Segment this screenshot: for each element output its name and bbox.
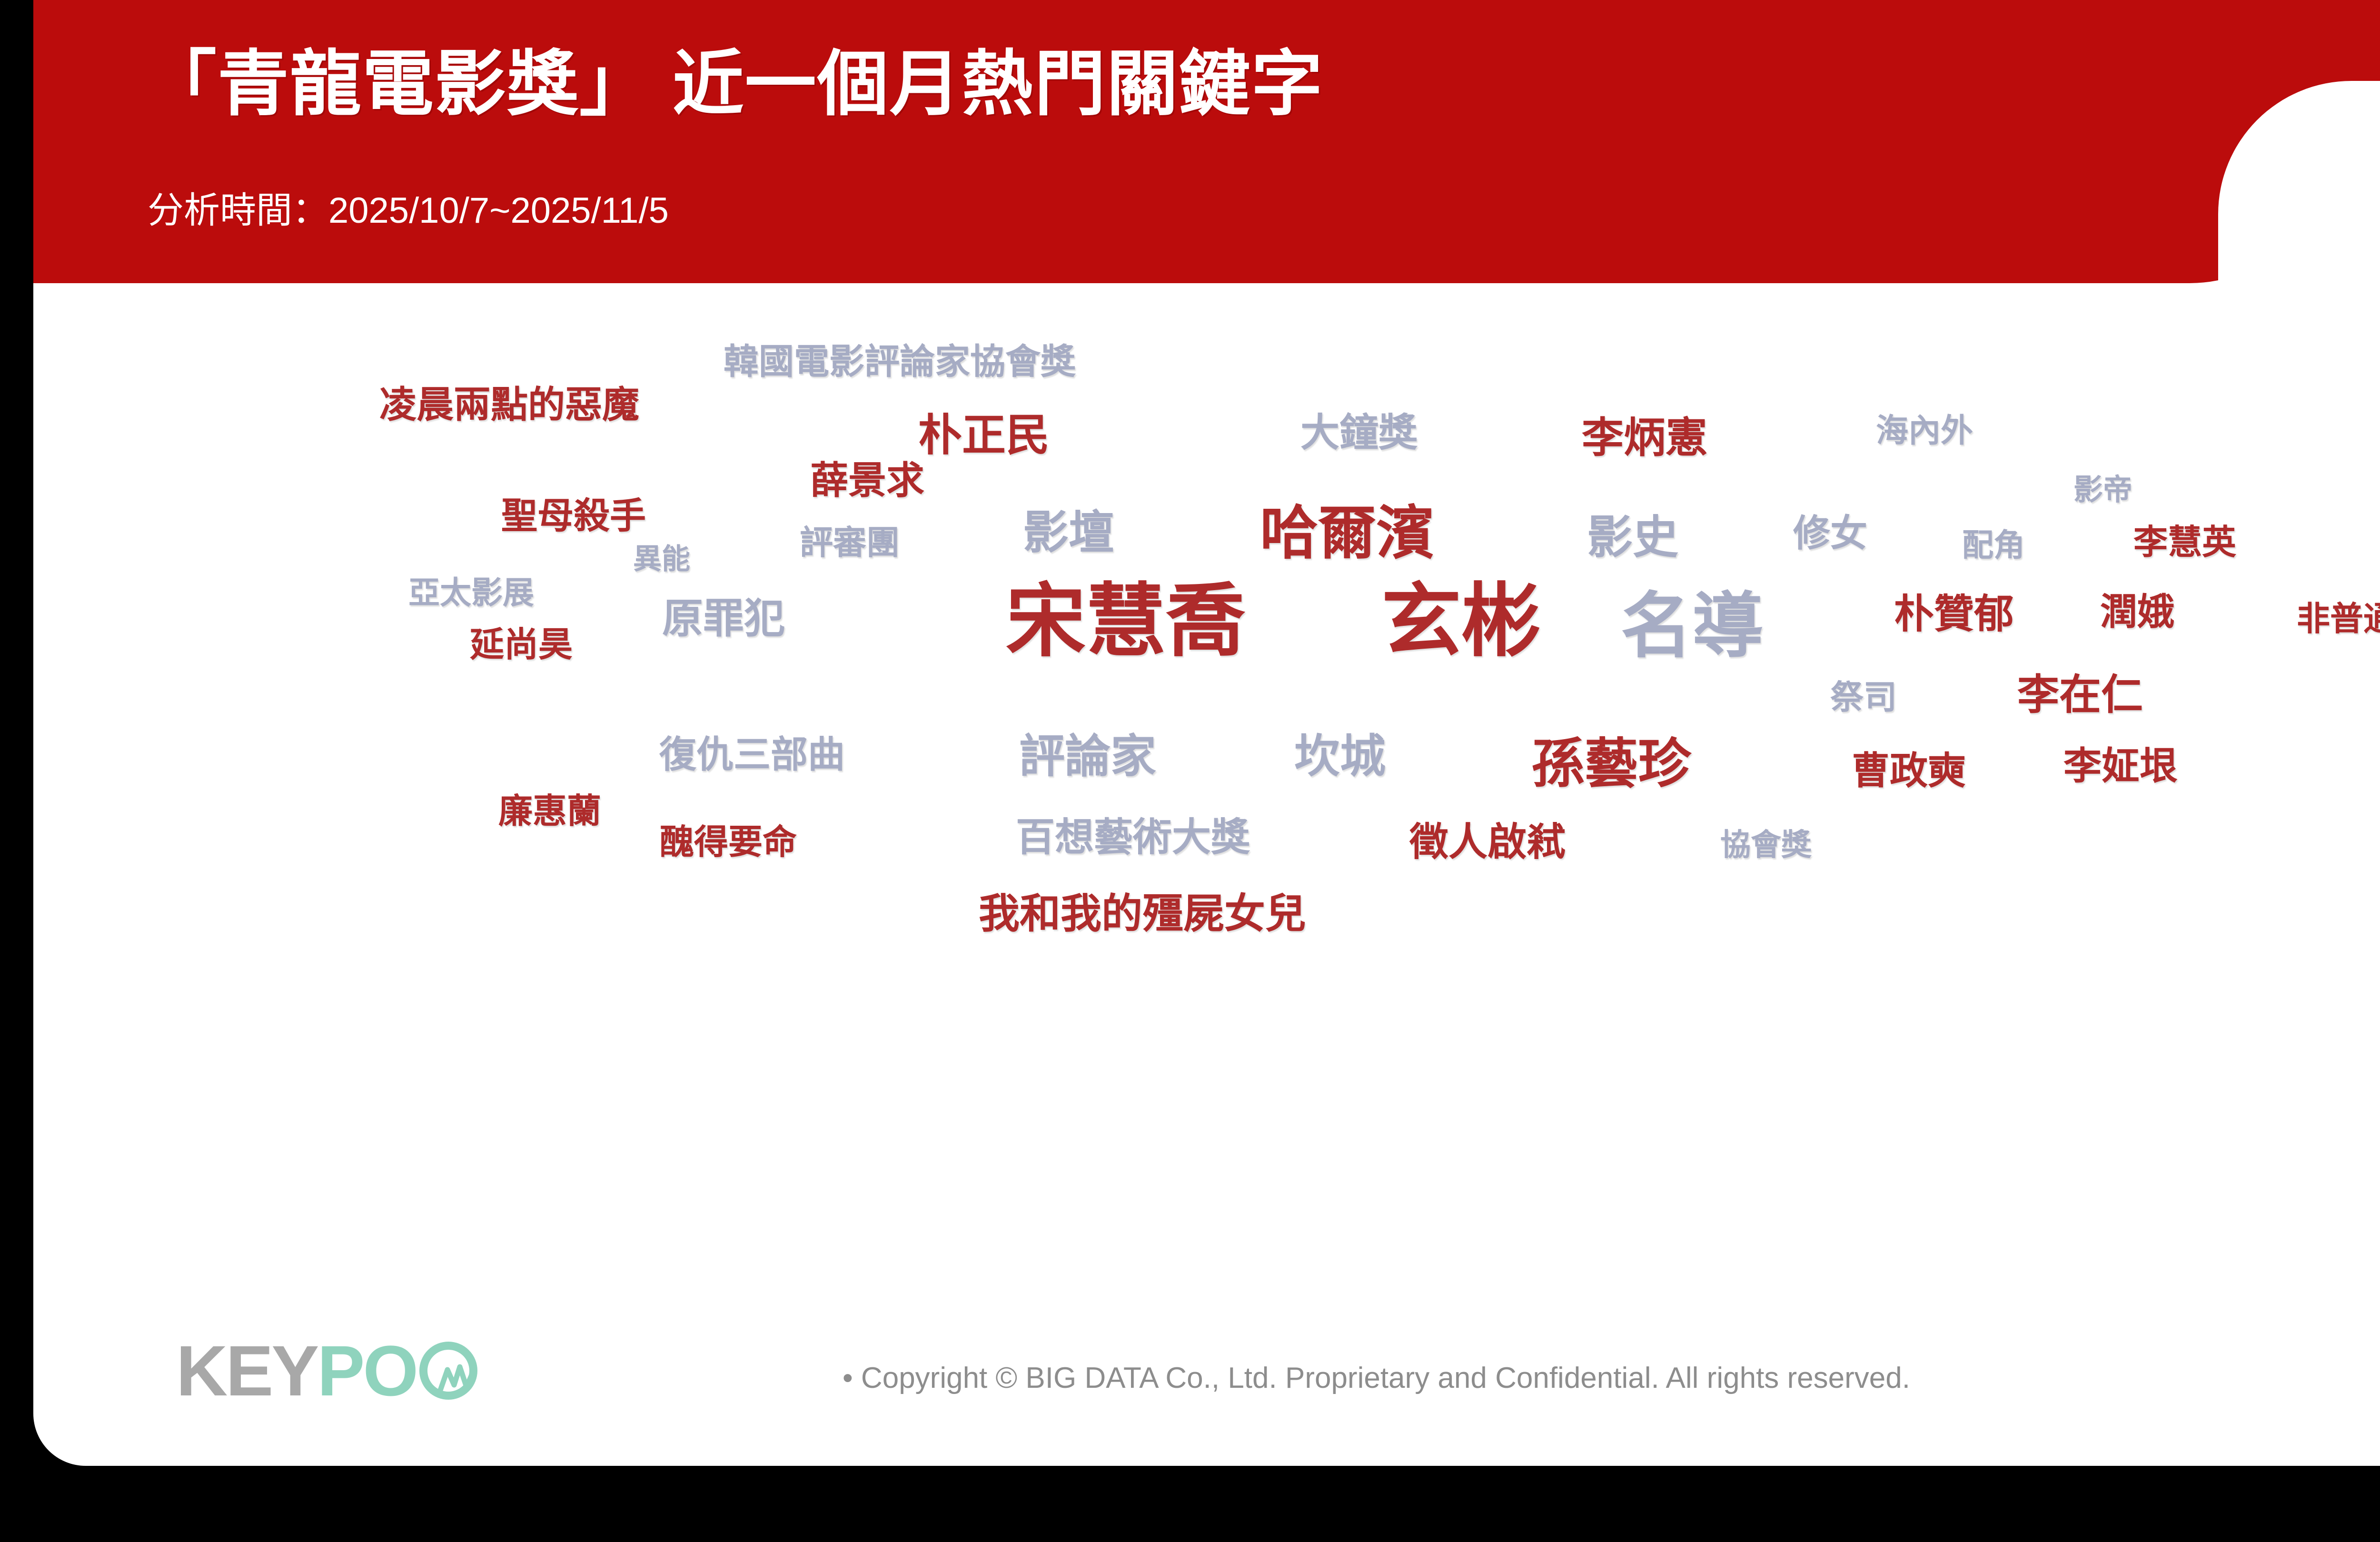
word-cloud-term[interactable]: 祭司 — [1830, 681, 1897, 714]
word-cloud-term[interactable]: 名導 — [1621, 590, 1764, 662]
word-cloud-term[interactable]: 孫藝珍 — [1531, 737, 1691, 791]
page-title: 「青龍電影獎」 近一個月熱門關鍵字 — [145, 26, 1324, 129]
analysis-period-label: 分析時間：2025/10/7~2025/11/5 — [148, 181, 669, 233]
word-cloud-term[interactable]: 玄彬 — [1381, 581, 1541, 661]
word-cloud-term[interactable]: 大鐘獎 — [1300, 414, 1418, 453]
word-cloud-term[interactable]: 李慧英 — [2133, 525, 2236, 560]
word-cloud-term[interactable]: 非普通家族 — [2297, 602, 2380, 635]
word-cloud-term[interactable]: 宋慧喬 — [1006, 581, 1246, 661]
word-cloud-term[interactable]: 原罪犯 — [662, 598, 785, 639]
word-cloud-term[interactable]: 配角 — [1962, 529, 2025, 561]
word-cloud-term[interactable]: 潤娥 — [2100, 593, 2174, 630]
word-cloud-term[interactable]: 徵人啟弒 — [1409, 823, 1566, 862]
content-card: 「青龍電影獎」 近一個月熱門關鍵字 分析時間：2025/10/7~2025/11… — [33, 0, 2380, 1466]
word-cloud-term[interactable]: 我和我的殭屍女兒 — [979, 893, 1306, 934]
word-cloud-term[interactable]: 曹政奭 — [1852, 752, 1966, 790]
word-cloud-term[interactable]: 聖母殺手 — [501, 498, 646, 534]
keypo-logo-key: KEY — [176, 1335, 317, 1406]
word-cloud: 韓國電影評論家協會獎凌晨兩點的惡魔朴正民大鐘獎李炳憲海內外影帝薛景求聖母殺手評審… — [33, 286, 2380, 1333]
word-cloud-term[interactable]: 影史 — [1587, 515, 1678, 561]
word-cloud-term[interactable]: 百想藝術大獎 — [1016, 818, 1250, 857]
screenshot-root: 「青龍電影獎」 近一個月熱門關鍵字 分析時間：2025/10/7~2025/11… — [0, 0, 2380, 1542]
word-cloud-term[interactable]: 李炳憲 — [1582, 417, 1707, 459]
copyright-notice: • Copyright © BIG DATA Co., Ltd. Proprie… — [843, 1361, 1910, 1395]
word-cloud-term[interactable]: 韓國電影評論家協會獎 — [724, 344, 1076, 379]
word-cloud-term[interactable]: 李在仁 — [2017, 674, 2143, 716]
word-cloud-term[interactable]: 凌晨兩點的惡魔 — [379, 386, 639, 423]
word-cloud-term[interactable]: 異能 — [633, 545, 690, 573]
word-cloud-term[interactable]: 影壇 — [1023, 510, 1114, 556]
keypo-wave-icon — [419, 1342, 477, 1400]
keypo-logo: KEY PO — [176, 1335, 477, 1406]
word-cloud-term[interactable]: 延尚昊 — [470, 628, 573, 662]
word-cloud-term[interactable]: 評審團 — [800, 526, 900, 559]
word-cloud-term[interactable]: 朴正民 — [918, 414, 1050, 457]
word-cloud-term[interactable]: 復仇三部曲 — [659, 736, 845, 773]
word-cloud-term[interactable]: 海內外 — [1876, 415, 1973, 447]
word-cloud-term[interactable]: 朴贊郁 — [1894, 594, 2014, 634]
word-cloud-term[interactable]: 哈爾濱 — [1260, 504, 1434, 562]
word-cloud-term[interactable]: 影帝 — [2073, 475, 2132, 505]
word-cloud-term[interactable]: 李姃垠 — [2063, 747, 2178, 785]
word-cloud-term[interactable]: 薛景求 — [810, 462, 924, 500]
word-cloud-term[interactable]: 醜得要命 — [660, 825, 797, 860]
word-cloud-term[interactable]: 廉惠蘭 — [498, 794, 601, 829]
word-cloud-term[interactable]: 坎城 — [1294, 734, 1386, 780]
word-cloud-term[interactable]: 修女 — [1793, 514, 1867, 552]
word-cloud-term[interactable]: 亞太影展 — [408, 577, 534, 608]
word-cloud-term[interactable]: 評論家 — [1019, 734, 1156, 780]
keypo-logo-po: PO — [317, 1335, 416, 1406]
word-cloud-term[interactable]: 協會獎 — [1720, 830, 1812, 860]
